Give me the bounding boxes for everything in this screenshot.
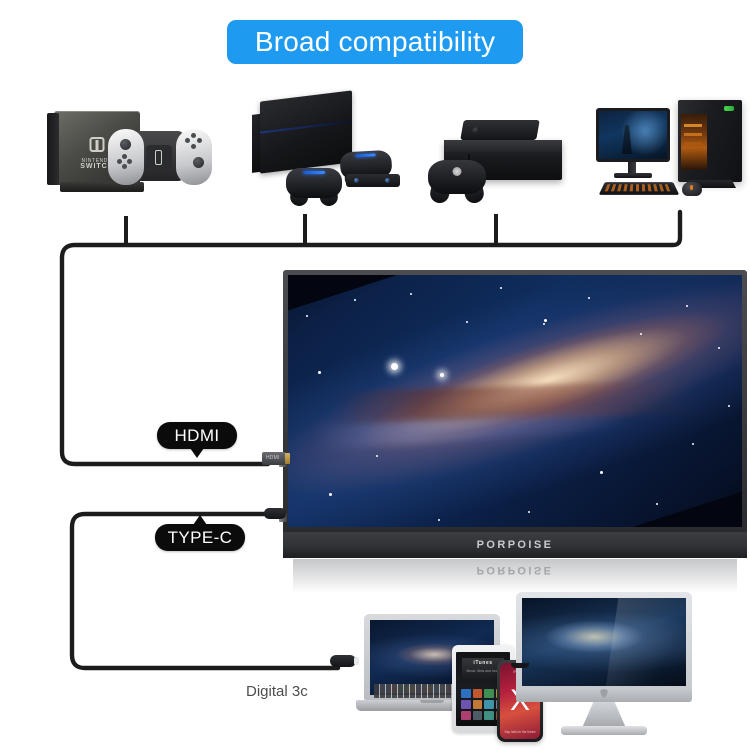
caption-text: Digital 3c [246,683,366,700]
portable-monitor: PORPOISE PORPOISE [283,270,747,565]
usb-c-connector-monitor-icon [264,508,286,519]
monitor-reflection-label: PORPOISE [477,564,554,576]
infographic-canvas: Broad compatibility NINTENDO SWITCH [0,0,750,750]
monitor-reflection: PORPOISE [293,559,737,593]
hdmi-connector-icon: HDMI [262,452,286,465]
usb-c-connector-macbook-icon [330,655,356,667]
console-drop-lines [126,214,496,245]
macbook-latch-notch [420,700,444,703]
imac-chin [522,687,686,699]
monitor-brand-label: PORPOISE [477,539,554,551]
type-c-callout-bubble: TYPE-C [155,524,245,551]
imac-stand-neck [582,702,626,728]
imac-screen-glare [605,598,686,686]
hdmi-connector-text: HDMI [266,455,280,461]
imac-stand-foot [561,726,647,735]
monitor-bottom-bezel: PORPOISE [283,532,747,558]
starfield [288,275,742,527]
monitor-screen [288,275,742,527]
iphone-notch [511,663,529,668]
imac-frame [516,592,692,702]
hdmi-callout-bubble: HDMI [157,422,237,449]
imac-screen [522,598,686,686]
device-imac [516,592,692,742]
type-c-label: TYPE-C [168,528,233,548]
hdmi-label: HDMI [174,426,219,446]
apple-logo-icon [600,689,608,698]
